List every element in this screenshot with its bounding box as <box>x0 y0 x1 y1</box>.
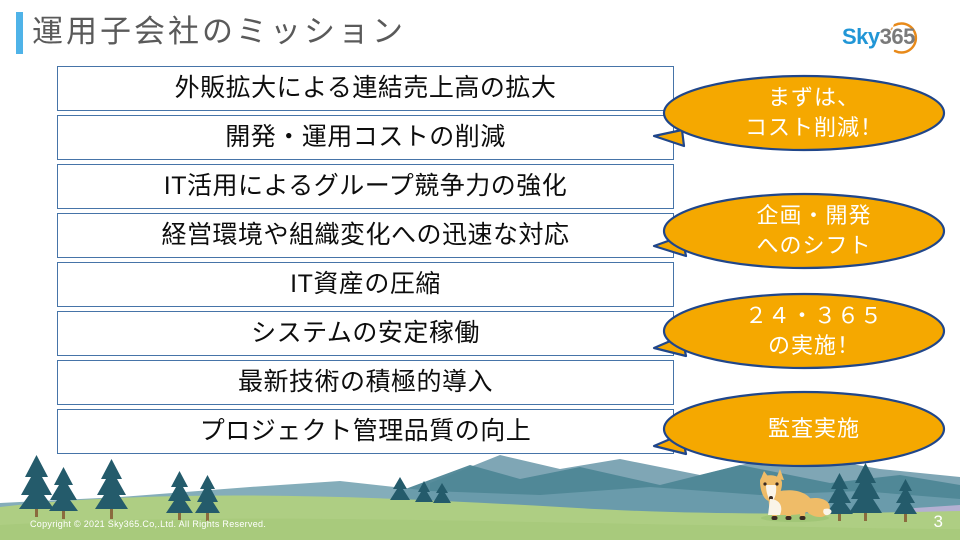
title-accent-bar <box>16 12 23 54</box>
slide-canvas: 運用子会社のミッション Sky365 外販拡大による連結売上高の拡大 開発・運用… <box>0 0 960 540</box>
mission-box-label: IT資産の圧縮 <box>290 272 441 297</box>
page-number: 3 <box>934 512 943 532</box>
speech-balloon-shape <box>652 186 948 276</box>
logo-text-sky: Sky <box>842 24 880 49</box>
speech-balloon-shape <box>652 384 948 474</box>
speech-balloon[interactable]: ２４・３６５ の実施！ <box>652 286 948 376</box>
speech-balloon[interactable]: 監査実施 <box>652 384 948 474</box>
mission-box-label: システムの安定稼働 <box>251 321 480 346</box>
mission-box[interactable]: IT資産の圧縮 <box>57 262 674 307</box>
mission-box[interactable]: システムの安定稼働 <box>57 311 674 356</box>
mission-box-label: 最新技術の積極的導入 <box>238 370 493 395</box>
mission-box[interactable]: 開発・運用コストの削減 <box>57 115 674 160</box>
page-title: 運用子会社のミッション <box>32 11 406 53</box>
mission-box[interactable]: 最新技術の積極的導入 <box>57 360 674 405</box>
mission-box[interactable]: IT活用によるグループ競争力の強化 <box>57 164 674 209</box>
mission-box-label: プロジェクト管理品質の向上 <box>200 419 532 444</box>
mission-box[interactable]: 外販拡大による連結売上高の拡大 <box>57 66 674 111</box>
speech-balloon[interactable]: まずは、 コスト削減！ <box>652 68 948 158</box>
mission-box[interactable]: 経営環境や組織変化への迅速な対応 <box>57 213 674 258</box>
copyright-text: Copyright © 2021 Sky365.Co,.Ltd. All Rig… <box>30 519 266 529</box>
fox-eye-right <box>775 482 778 485</box>
pine-tree <box>19 455 54 517</box>
mission-box-label: 経営環境や組織変化への迅速な対応 <box>161 223 569 248</box>
mission-box[interactable]: プロジェクト管理品質の向上 <box>57 409 674 454</box>
speech-balloon[interactable]: 企画・開発 へのシフト <box>652 186 948 276</box>
logo-text-365: 365 <box>880 24 915 49</box>
sky365-logo: Sky365 <box>842 18 942 58</box>
speech-balloon-shape <box>652 68 948 158</box>
mission-box-label: 外販拡大による連結売上高の拡大 <box>175 76 557 101</box>
logo-text: Sky365 <box>842 24 915 50</box>
speech-balloon-shape <box>652 286 948 376</box>
fox-eye-left <box>763 482 766 485</box>
mission-box-label: IT活用によるグループ競争力の強化 <box>164 174 567 199</box>
mission-list: 外販拡大による連結売上高の拡大 開発・運用コストの削減 IT活用によるグループ競… <box>57 66 674 458</box>
mission-box-label: 開発・運用コストの削減 <box>225 125 506 150</box>
